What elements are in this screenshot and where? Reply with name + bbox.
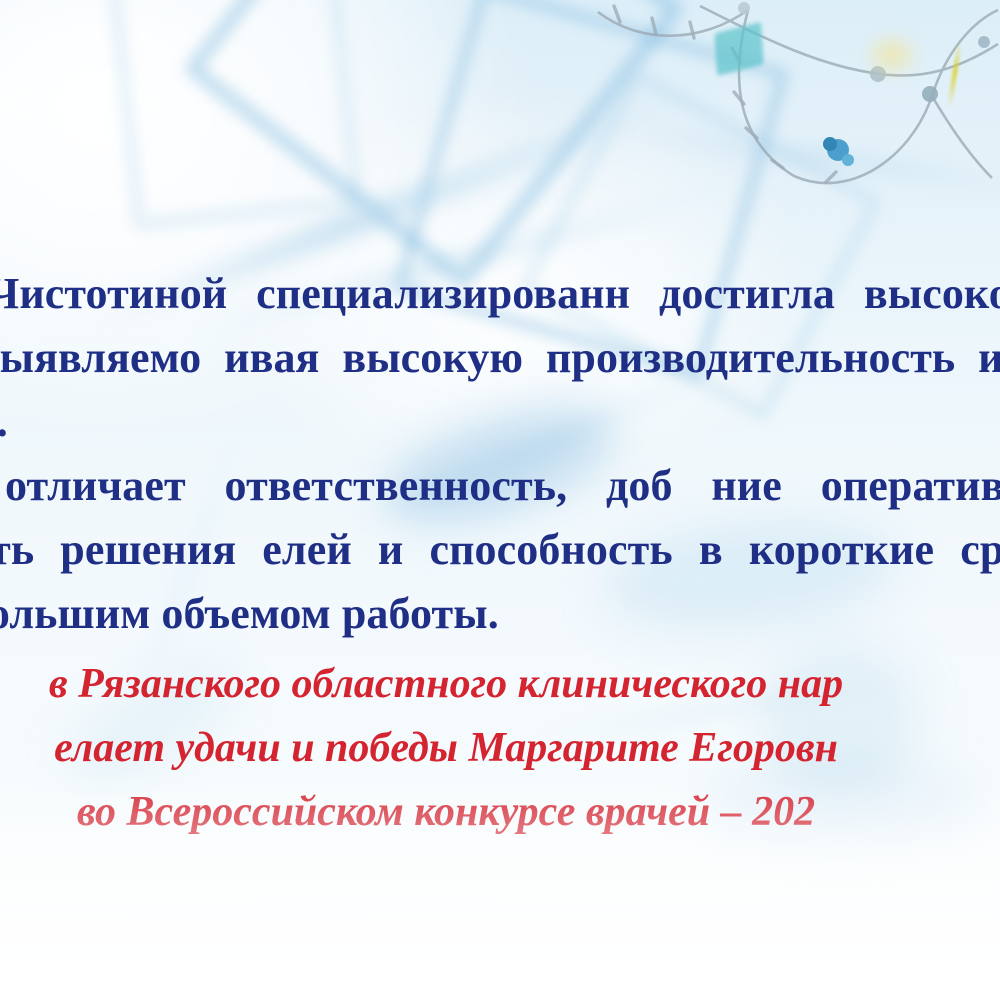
- amber-accent-glow: [862, 30, 922, 80]
- closing-text: в Рязанского областного клинического нар…: [0, 652, 1000, 844]
- closing-line: в Рязанского областного клинического нар: [0, 652, 1000, 716]
- closing-line: во Всероссийском конкурсе врачей – 202: [0, 780, 1000, 844]
- slide-text-block: я М.Е. Чистотиной специализированн дости…: [0, 262, 1000, 844]
- dna-helix-icon: [580, 0, 1000, 230]
- body-paragraph: я М.Е. Чистотиной специализированн дости…: [0, 262, 1000, 454]
- closing-line: елает удачи и победы Маргарите Егоровн: [0, 716, 1000, 780]
- body-paragraph: у М.Е. отличает ответственность, доб ние…: [0, 454, 1000, 646]
- body-text: я М.Е. Чистотиной специализированн дости…: [0, 262, 1000, 646]
- presentation-slide: я М.Е. Чистотиной специализированн дости…: [0, 0, 1000, 1000]
